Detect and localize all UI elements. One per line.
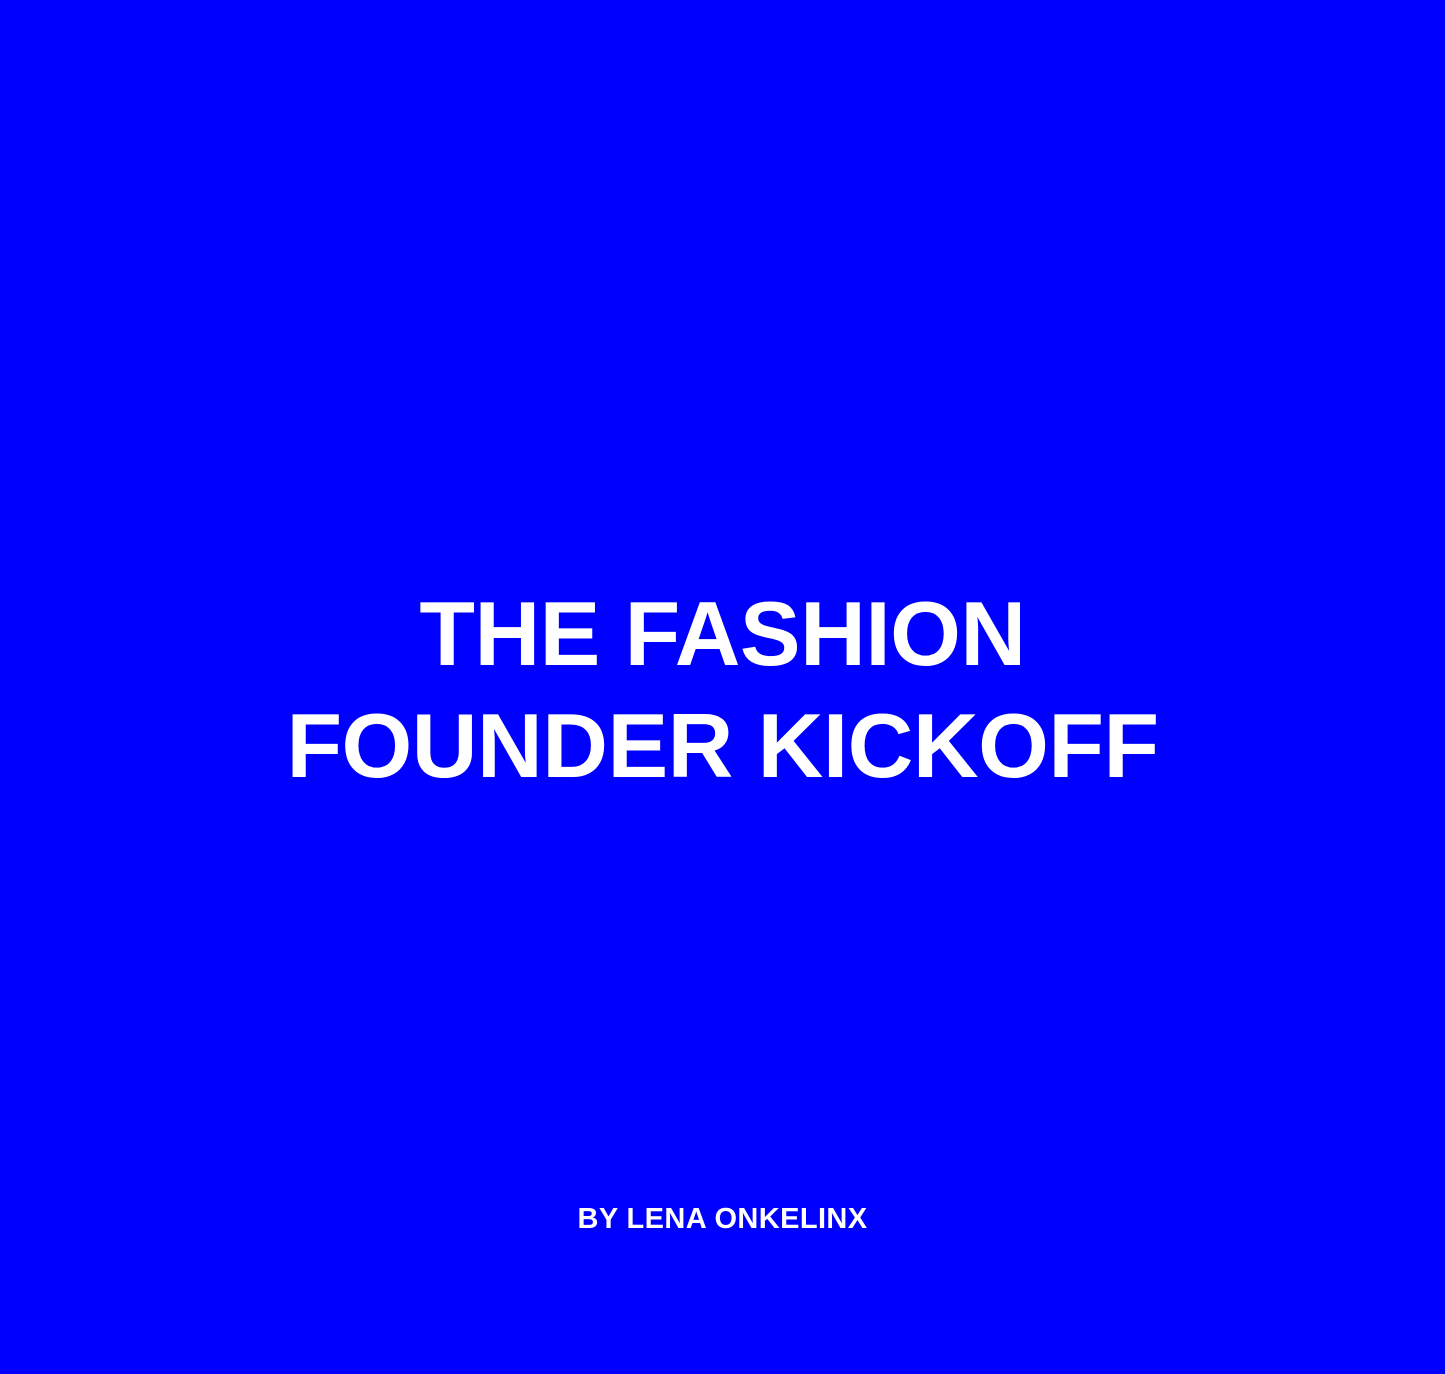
page-title: THE FASHION FOUNDER KICKOFF	[133, 579, 1313, 803]
byline-author: BY LENA ONKELINX	[0, 1199, 1445, 1239]
byline-block: BY LENA ONKELINX	[0, 1199, 1445, 1239]
title-slide: THE FASHION FOUNDER KICKOFF BY LENA ONKE…	[0, 0, 1445, 1374]
title-block: THE FASHION FOUNDER KICKOFF	[0, 0, 1445, 803]
